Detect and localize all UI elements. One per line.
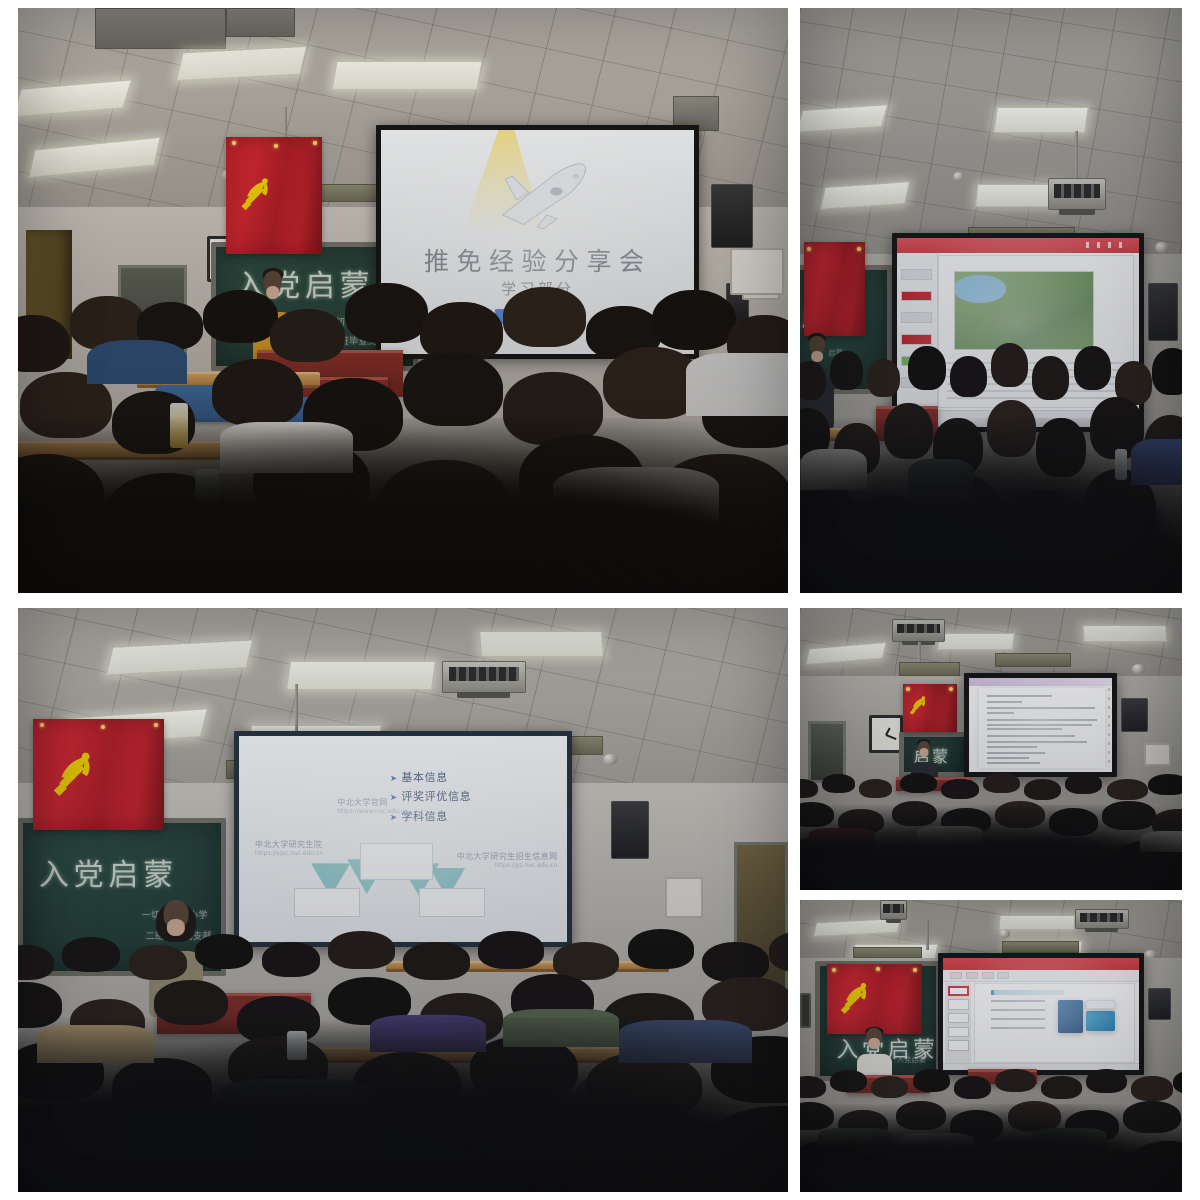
- projector-pole: [1075, 131, 1078, 184]
- ceiling-light: [998, 915, 1075, 930]
- foreground-shadow: [800, 418, 1182, 594]
- airplane-icon: [475, 143, 613, 237]
- wall-speaker: [611, 801, 650, 859]
- cpc-party-flag: [903, 684, 956, 732]
- panel-bottom-right[interactable]: 入党启蒙 入党启蒙: [800, 900, 1182, 1192]
- ceiling-projector-left[interactable]: [880, 900, 907, 920]
- wall-speaker: [1148, 283, 1179, 342]
- wall-speaker: [1121, 698, 1148, 732]
- photo-collage: 入党启蒙 一切照耀着小学 二班毕业党支部: [0, 0, 1200, 1200]
- wall-speaker: [711, 184, 753, 248]
- projection-screen[interactable]: [938, 953, 1144, 1076]
- cpc-party-flag: [226, 137, 322, 254]
- wall-frame: [800, 993, 811, 1028]
- caption-left: 中北大学研究生院 https://yjsc.nuc.edu.cn: [255, 839, 323, 857]
- ceiling-projector[interactable]: [892, 619, 945, 642]
- bullet-item: 学科信息: [390, 808, 541, 824]
- powerpoint-slide: [943, 958, 1139, 1071]
- projector-pole: [926, 920, 929, 949]
- slide-card-blue: [1058, 1000, 1083, 1033]
- foreground-shadow: [800, 805, 1182, 890]
- slide-thumbnail-campus: [419, 888, 485, 917]
- dome-camera: [953, 172, 964, 181]
- document-page: [979, 688, 1105, 768]
- foreground-shadow: [18, 1017, 788, 1192]
- wall-clock: [869, 715, 903, 753]
- panel-top-right[interactable]: 启蒙 启蒙: [800, 8, 1182, 593]
- power-outlet: [1144, 743, 1171, 766]
- screen-valance: [853, 947, 922, 959]
- caption-left-url: https://yjsc.nuc.edu.cn: [255, 850, 323, 857]
- wall-speaker: [1148, 988, 1171, 1020]
- browser-titlebar: [897, 238, 1139, 253]
- dome-camera: [999, 929, 1010, 938]
- hammer-and-sickle-icon: [906, 692, 930, 717]
- ceiling-light: [331, 61, 482, 90]
- slide-heading: 推免经验分享会: [381, 242, 694, 278]
- document-titlebar: [969, 678, 1112, 686]
- hammer-and-sickle-icon: [235, 162, 275, 223]
- caption-mid-text: 中北大学官网: [337, 798, 387, 807]
- foreground-shadow: [800, 1104, 1182, 1192]
- ceiling-light: [285, 661, 435, 690]
- ceiling-light: [1082, 625, 1167, 642]
- ceiling-projector[interactable]: [1075, 909, 1128, 929]
- projection-screen[interactable]: 基本信息 评奖评优信息 学科信息 中北大学官网 https://www.nuc.…: [234, 731, 573, 947]
- caption-right-text: 中北大学研究生招生信息网: [457, 852, 558, 861]
- dome-camera: [603, 754, 617, 765]
- ceiling-projector[interactable]: [442, 661, 527, 693]
- ceiling-duct: [95, 8, 226, 49]
- caption-right-url: https://yz.nuc.edu.cn: [457, 862, 558, 869]
- panel-top-left[interactable]: 入党启蒙 一切照耀着小学 二班毕业党支部: [18, 8, 788, 593]
- cpc-party-flag: [33, 719, 164, 830]
- projection-screen[interactable]: [964, 673, 1117, 777]
- screen-valance-2: [1002, 941, 1078, 953]
- hammer-and-sickle-icon: [834, 977, 874, 1016]
- slide-thumbnail-rail[interactable]: [945, 983, 971, 1063]
- ceiling-light: [936, 633, 1015, 650]
- caption-mid-url: https://www.nuc.edu.cn: [337, 808, 408, 815]
- slide-thumbnail-red: [360, 843, 432, 880]
- bullet-item: 基本信息: [390, 769, 541, 785]
- slide-stage: [974, 983, 1135, 1063]
- hammer-and-sickle-icon: [45, 743, 100, 801]
- caption-right: 中北大学研究生招生信息网 https://yz.nuc.edu.cn: [457, 851, 558, 869]
- wall-panel: [665, 877, 704, 918]
- dome-camera-right: [1155, 242, 1169, 253]
- slide-card-cyan: [1086, 1011, 1115, 1031]
- blackboard-text: 入党启蒙: [39, 850, 178, 894]
- slide-bullet-list: 基本信息 评奖评优信息 学科信息: [390, 769, 541, 828]
- powerpoint-ribbon: [943, 970, 1139, 982]
- document-scrollbar[interactable]: [1108, 688, 1110, 768]
- slide-card-white: [1086, 1000, 1115, 1009]
- caption-mid: 中北大学官网 https://www.nuc.edu.cn: [337, 797, 408, 815]
- screen-valance-2: [995, 653, 1071, 667]
- ceiling-light: [993, 107, 1088, 133]
- caption-left-text: 中北大学研究生院: [255, 840, 322, 849]
- foreground-shadow: [18, 418, 788, 594]
- document-slide: [969, 678, 1112, 772]
- powerpoint-titlebar: [943, 958, 1139, 970]
- panel-mid-right[interactable]: 启蒙: [800, 608, 1182, 890]
- cpc-party-flag: [804, 242, 865, 336]
- bullet-item: 评奖评优信息: [390, 788, 541, 804]
- panel-bottom-left[interactable]: 入党启蒙 一切照耀着小学 二班毕业党支部: [18, 608, 788, 1192]
- ceiling-projector[interactable]: [1048, 178, 1105, 210]
- screen-valance: [899, 662, 960, 676]
- cpc-party-flag: [827, 964, 923, 1034]
- slide-body-text: [991, 1000, 1045, 1034]
- slide-title-bar: [991, 990, 1064, 995]
- ceiling-duct-2: [226, 8, 295, 37]
- ceiling-light: [479, 631, 604, 657]
- bullet-slide: 基本信息 评奖评优信息 学科信息 中北大学官网 https://www.nuc.…: [239, 736, 568, 942]
- slide-thumbnail-table: [294, 888, 360, 917]
